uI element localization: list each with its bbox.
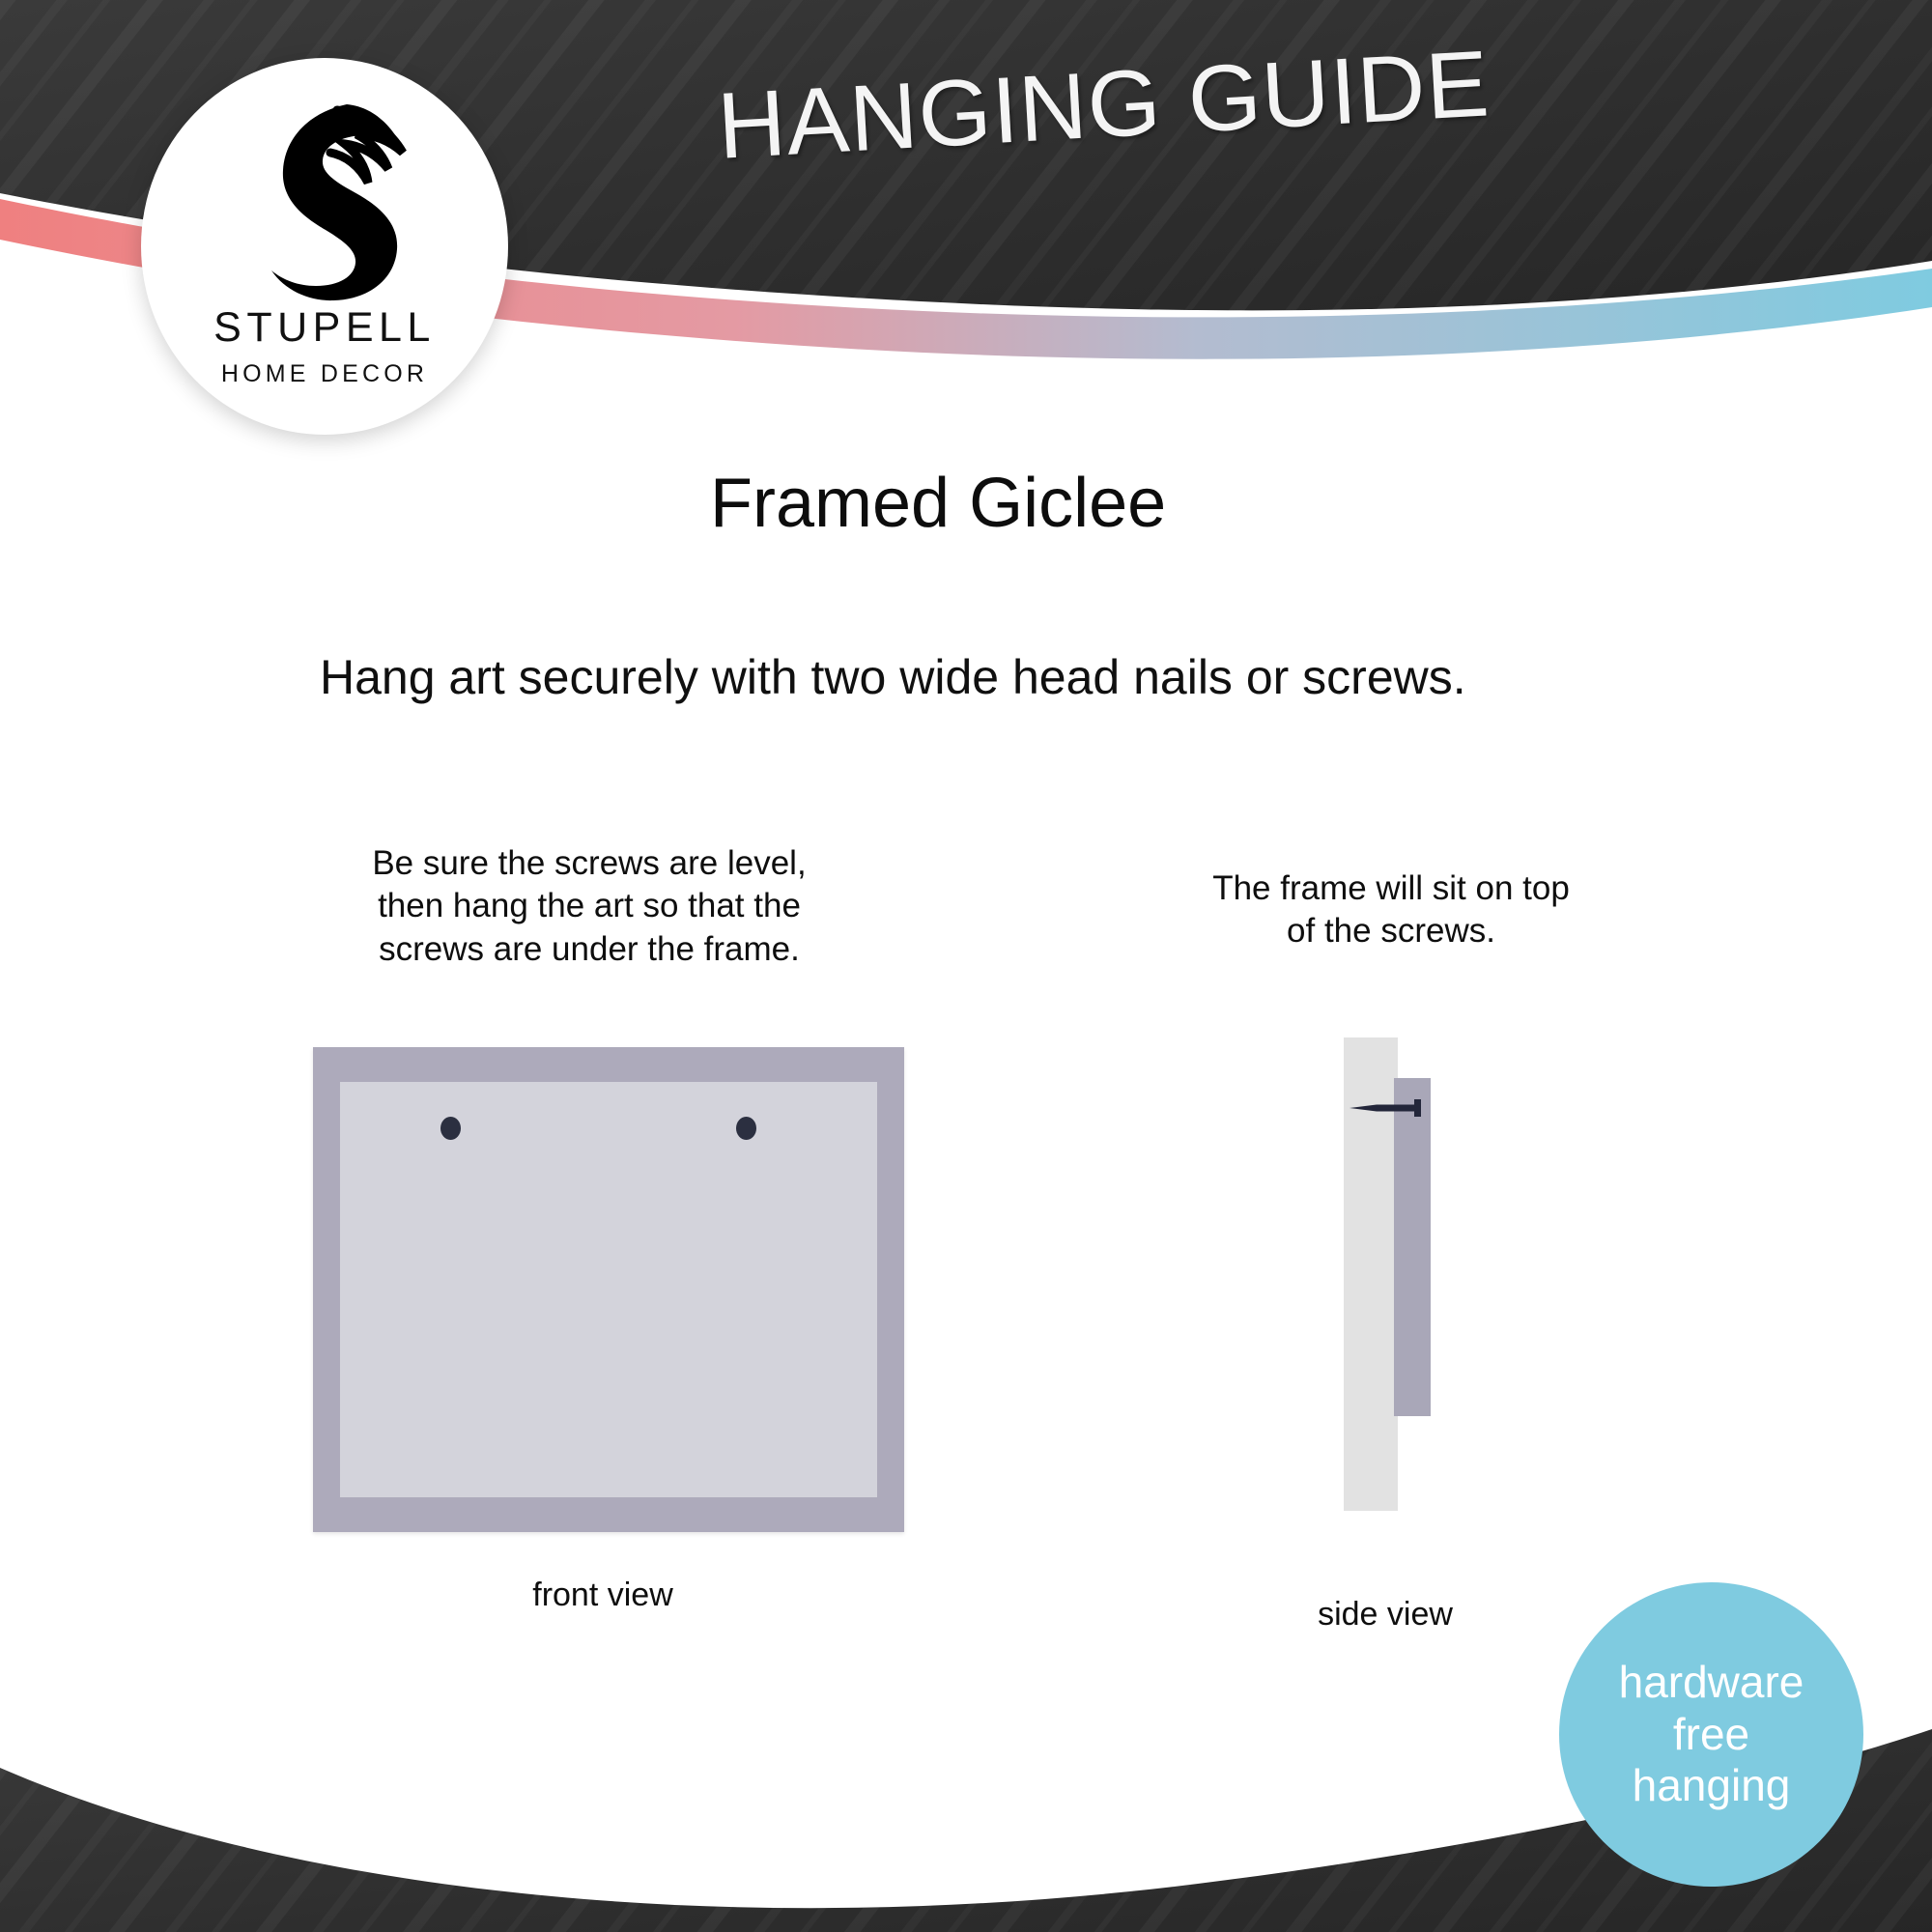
brand-tagline: HOME DECOR — [221, 362, 428, 386]
screw-dot-right-icon — [736, 1117, 756, 1140]
badge-line: free — [1673, 1709, 1749, 1761]
side-view-caption: The frame will sit on top of the screws. — [1140, 867, 1642, 953]
badge-line: hanging — [1633, 1760, 1791, 1812]
hanging-guide-page: STUPELL HOME DECOR HANGING GUIDE Framed … — [0, 0, 1932, 1932]
page-title: HANGING GUIDE — [715, 29, 1492, 180]
badge-line: hardware — [1619, 1657, 1804, 1709]
brand-logo-badge: STUPELL HOME DECOR — [141, 58, 508, 435]
caption-line: of the screws. — [1140, 910, 1642, 952]
front-view-label: front view — [410, 1577, 796, 1614]
stupell-swan-s-icon — [233, 99, 416, 301]
caption-line: then hang the art so that the — [290, 885, 889, 927]
front-view-caption: Be sure the screws are level, then hang … — [290, 842, 889, 971]
nail-icon — [1348, 1097, 1436, 1119]
front-view-frame-graphic — [313, 1047, 904, 1532]
brand-name: STUPELL — [213, 307, 436, 349]
caption-line: The frame will sit on top — [1140, 867, 1642, 910]
product-type: Framed Giclee — [710, 464, 1166, 543]
screw-dot-left-icon — [440, 1117, 461, 1140]
front-view-mat — [340, 1082, 877, 1497]
hardware-free-hanging-badge: hardware free hanging — [1559, 1582, 1863, 1887]
caption-line: Be sure the screws are level, — [290, 842, 889, 885]
primary-instruction: Hang art securely with two wide head nai… — [320, 649, 1466, 705]
caption-line: screws are under the frame. — [290, 928, 889, 971]
side-view-frame-graphic — [1394, 1078, 1431, 1416]
side-view-label: side view — [1240, 1596, 1530, 1634]
